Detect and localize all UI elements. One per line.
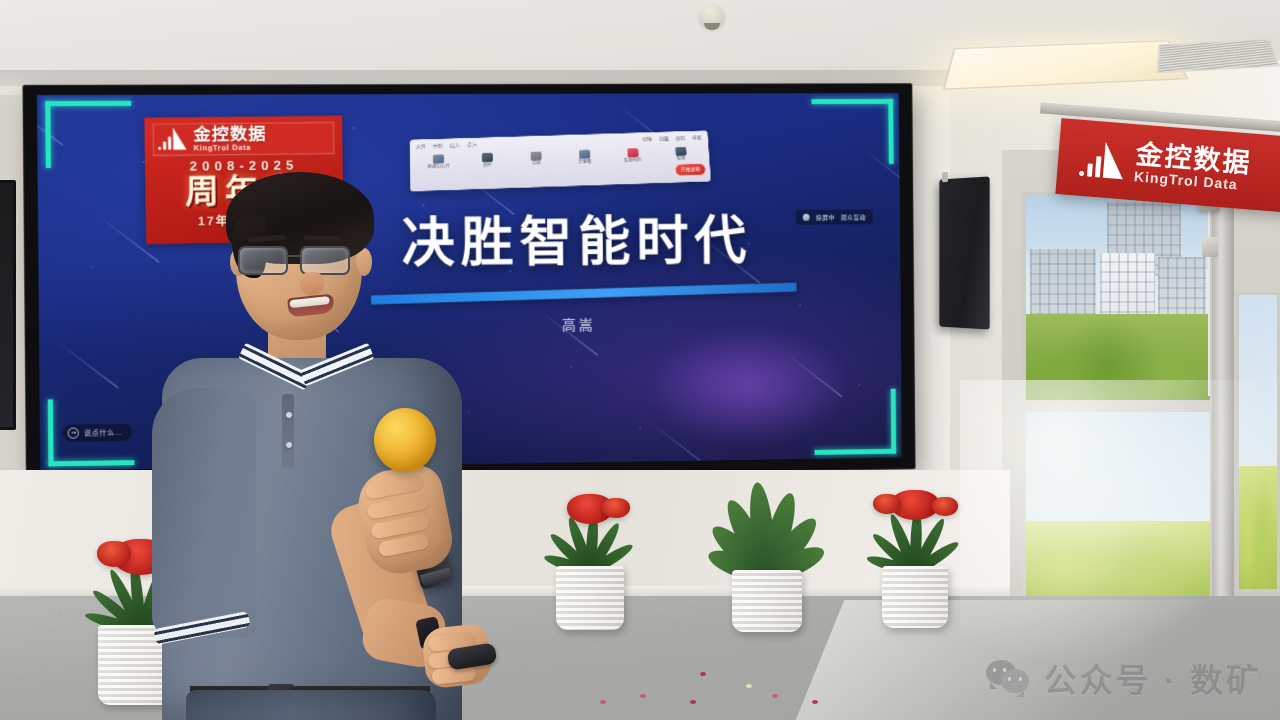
tool-shape[interactable]: 形状 [512,151,560,167]
lens-right [300,246,350,275]
lens-left [238,246,288,275]
smartart-icon [627,148,638,157]
left-sleeve [152,388,256,638]
slide-hud: 投屏中 观众互动 [796,209,872,224]
jeans [186,690,436,720]
plant-3-foliage [700,472,834,576]
plant-4-foliage [852,482,978,572]
plant-3 [700,470,834,632]
window-lower [1022,408,1214,604]
plant-2-pot [556,566,624,630]
capture-bracket-bottom-right [814,389,896,455]
trees-far [1239,466,1277,589]
petal [700,672,706,676]
presenter [150,150,480,720]
menu-item-design[interactable]: 设计 [467,144,477,149]
poster-brand-block: 金控数据 KingTrol Data [193,126,266,153]
play-icon [675,147,686,156]
capture-bracket-top-left [45,101,132,168]
hud-status-icon [803,214,810,221]
tool-label: 图片 [483,163,492,168]
window-mullion [1212,150,1234,620]
trees-outside-bright [1026,521,1210,600]
plant-2 [530,478,650,630]
tool-label: 智能图形 [624,158,642,163]
sensor-box [1202,237,1218,257]
plant-4 [852,472,978,628]
petal [746,684,752,688]
plant-4-bloom-2 [873,494,901,514]
banner-text-block: 金控数据 KingTrol Data [1133,141,1252,193]
watermark-text: 公众号 · 数矿 [1044,654,1262,702]
shape-icon [530,151,541,160]
shirt-button [286,442,292,448]
menu-item-review[interactable]: 审阅 [692,137,702,142]
textbox-icon [579,150,590,159]
photo-scene: 金控数据 KingTrol Data 2008-2025 周年庆 17年风雨 感… [0,0,1280,720]
window-far-right [1236,292,1280,592]
capture-bracket-bottom-left [48,398,135,466]
smoke-detector-icon [700,4,724,26]
secondary-display-panel [0,180,16,430]
plant-4-bloom-3 [932,497,958,516]
petal [690,700,696,704]
nose [300,272,324,296]
tool-label: 形状 [532,161,541,166]
petal [600,700,606,704]
window-upper [1022,192,1214,404]
plant-2-bloom-2 [602,498,630,518]
plant-3-pot [732,570,802,632]
start-slideshow-button[interactable]: 开始放映 [675,164,705,176]
hud-status-left: 投屏中 [816,213,835,222]
plant-2-foliage [530,486,650,572]
watermark: 公众号 · 数矿 [986,654,1262,702]
petal [772,694,778,698]
plant-4-pot [882,566,948,628]
plant-1-bloom-2 [97,541,131,567]
glasses-icon [238,246,364,276]
toolbar-spacer [484,141,636,146]
shirt-button [286,412,292,418]
kingtrol-logo-icon [1079,138,1128,182]
petal [640,694,646,698]
wechat-icon [986,660,1032,696]
trees-outside [1026,314,1210,400]
tool-label: 放映 [676,157,685,162]
menu-item-insert[interactable]: 插入 [450,144,460,149]
wall-speaker [939,176,989,329]
capture-bracket-top-right [812,99,894,164]
menu-item-transition[interactable]: 切换 [642,138,652,143]
tool-smartart[interactable]: 智能图形 [609,148,657,164]
teeth [289,296,330,308]
menu-item-slideshow[interactable]: 放映 [676,137,686,142]
poster-brand-cn: 金控数据 [193,126,266,144]
shirt-collar [242,352,374,410]
petal [812,700,818,704]
pull-cable [1208,196,1210,396]
microphone-head [374,408,436,472]
picture-icon [482,153,493,162]
tool-play[interactable]: 放映 [657,146,705,162]
kingtrol-logo-icon [158,126,189,153]
menu-item-animation[interactable]: 动画 [659,138,669,143]
hud-status-right: 观众互动 [841,212,866,221]
tool-label: 文本框 [578,160,592,165]
tool-textbox[interactable]: 文本框 [561,149,609,165]
